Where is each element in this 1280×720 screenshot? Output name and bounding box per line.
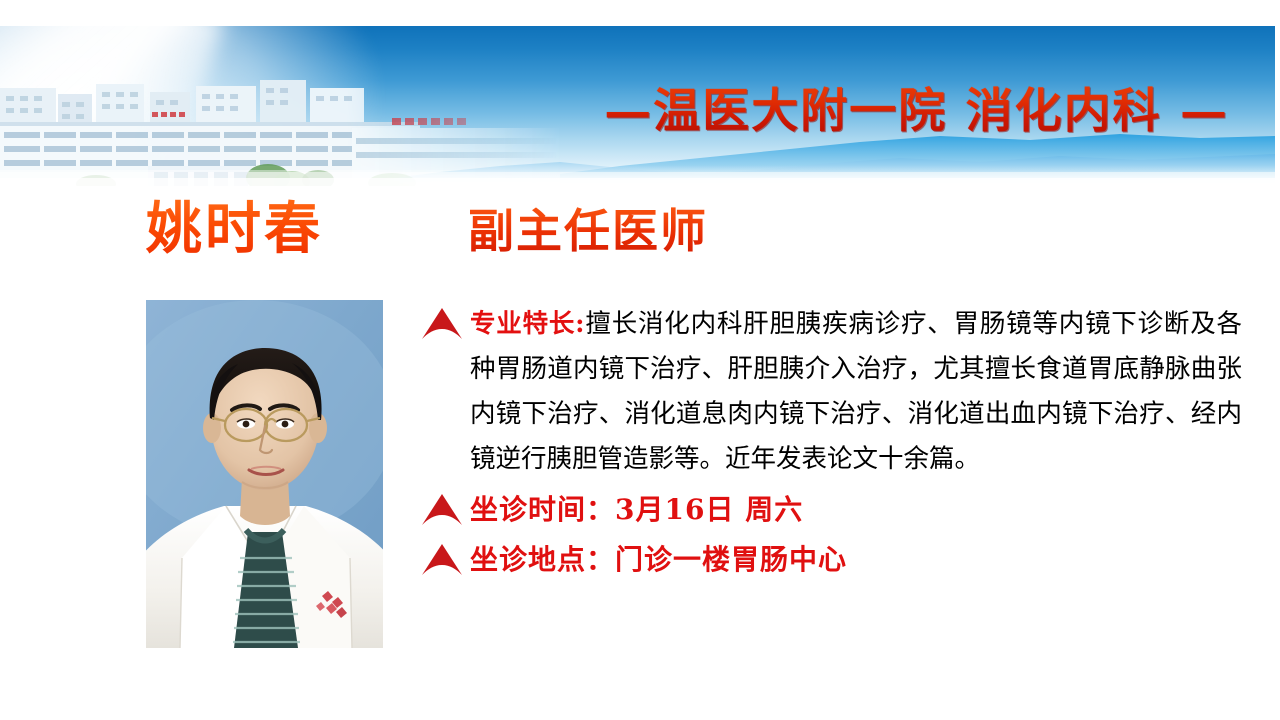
appointment-time-line: 坐诊时间：3月16日 周六 [470, 488, 1242, 532]
doctor-header-row: 姚时春 副主任医师 [0, 196, 1280, 270]
doctor-profile-slide: —温医大附一院 消化内科 — 姚时春 副主任医师 [0, 0, 1280, 720]
red-triangle-bullet-icon [420, 542, 464, 578]
appointment-time-label: 坐诊时间： [470, 493, 615, 526]
specialty-body: 擅长消化内科肝胆胰疾病诊疗、胃肠镜等内镜下诊断及各种胃肠道内镜下治疗、肝胆胰介入… [470, 309, 1242, 474]
specialty-label: 专业特长: [470, 309, 585, 339]
doctor-professional-title: 副主任医师 [468, 202, 708, 260]
appointment-place-label: 坐诊地点： [470, 543, 615, 576]
doctor-photo [146, 300, 383, 648]
specialty-block: 专业特长:擅长消化内科肝胆胰疾病诊疗、胃肠镜等内镜下诊断及各种胃肠道内镜下治疗、… [412, 302, 1242, 482]
doctor-name: 姚时春 [146, 196, 323, 262]
page-banner: —温医大附一院 消化内科 — [0, 26, 1275, 186]
appointment-place-value: 门诊一楼胃肠中心 [615, 543, 847, 576]
specialty-text: 专业特长:擅长消化内科肝胆胰疾病诊疗、胃肠镜等内镜下诊断及各种胃肠道内镜下治疗、… [470, 302, 1242, 482]
banner-title-wrap: —温医大附一院 消化内科 — [0, 26, 1275, 186]
doctor-details: 专业特长:擅长消化内科肝胆胰疾病诊疗、胃肠镜等内镜下诊断及各种胃肠道内镜下治疗、… [412, 302, 1242, 582]
appointment-time-block: 坐诊时间：3月16日 周六 [412, 488, 1242, 532]
appointment-place-line: 坐诊地点：门诊一楼胃肠中心 [470, 538, 1242, 582]
red-triangle-bullet-icon [420, 492, 464, 528]
banner-title: —温医大附一院 消化内科 — [604, 72, 1229, 141]
red-triangle-bullet-icon [420, 306, 464, 342]
appointment-place-block: 坐诊地点：门诊一楼胃肠中心 [412, 538, 1242, 582]
appointment-time-value: 3月16日 周六 [615, 493, 803, 526]
